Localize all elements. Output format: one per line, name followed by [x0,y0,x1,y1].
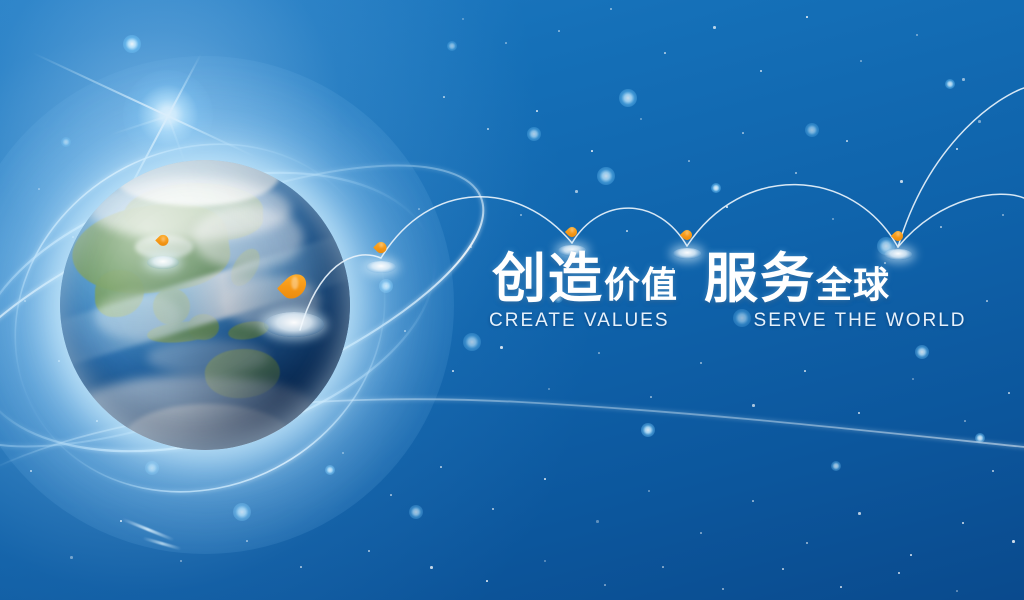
pin-base-glow [366,261,396,273]
subtitle-serve-the-world: SERVE THE WORLD [754,310,967,332]
headline-phrase1-secondary: 价值 [604,267,678,306]
marker-globe-asia-pin[interactable] [147,235,179,269]
headline-phrase2-secondary: 全球 [816,267,890,306]
pin-marker-icon [891,229,905,243]
arc-2-to-3 [572,208,687,246]
arc-3-to-4 [687,185,898,247]
arc-4-overhead [898,88,1024,247]
pin-base-glow [147,256,179,269]
pin-marker-icon [277,269,311,303]
marker-route-1-pin[interactable] [366,242,396,274]
pin-base-glow [264,312,324,337]
pin-marker-icon [155,233,171,249]
banner-canvas: 创造 价值 服务 全球 CREATE VALUES SERVE THE WORL… [0,0,1024,600]
subtitle-create-values: CREATE VALUES [489,310,670,332]
pin-marker-icon [680,228,694,242]
headline-block: 创造 价值 服务 全球 [492,252,890,306]
subtitle-gap [670,310,754,332]
headline-line: 创造 价值 服务 全球 [492,252,890,306]
subtitle-row: CREATE VALUES SERVE THE WORLD [489,310,967,332]
headline-phrase2-emphasis: 服务 [704,252,816,306]
pin-marker-icon [565,225,579,239]
pin-marker-icon [373,239,388,254]
marker-globe-oceania-pin[interactable] [264,273,324,337]
arc-4-outbound [898,194,1024,247]
headline-phrase1-emphasis: 创造 [492,252,604,306]
